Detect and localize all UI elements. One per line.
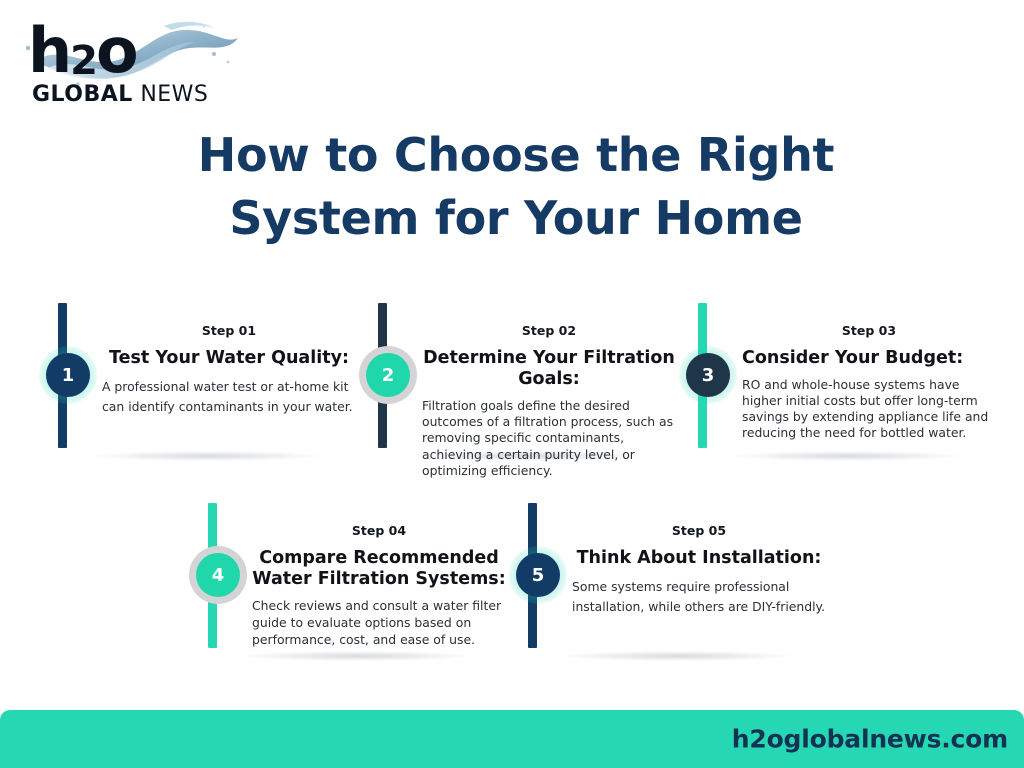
step-body-1: Step 01 Test Your Water Quality: A profe… <box>102 303 356 417</box>
logo-o: o <box>96 14 137 87</box>
step-heading-1: Test Your Water Quality: <box>102 338 356 369</box>
step-text-3: RO and whole-house systems have higher i… <box>742 369 996 442</box>
step-shadow-4 <box>242 651 472 661</box>
logo-global-text: GLOBAL <box>32 82 133 107</box>
step-card-4: 4 Step 04 Compare Recommended Water Filt… <box>196 503 506 663</box>
step-number-badge-2: 2 <box>366 353 410 397</box>
step-heading-4: Compare Recommended Water Filtration Sys… <box>252 538 506 591</box>
step-heading-5: Think About Installation: <box>572 538 826 569</box>
logo-2: 2 <box>70 38 96 84</box>
logo-h2o-text: h2o <box>28 20 137 82</box>
step-shadow-1 <box>92 451 322 461</box>
step-card-3: 3 Step 03 Consider Your Budget: RO and w… <box>686 303 996 463</box>
step-number-badge-4: 4 <box>196 553 240 597</box>
step-number-badge-1: 1 <box>46 353 90 397</box>
footer-bar: h2oglobalnews.com <box>0 710 1024 768</box>
site-logo[interactable]: h2o GLOBAL NEWS <box>14 18 244 113</box>
step-text-2: Filtration goals define the desired outc… <box>422 390 676 479</box>
step-heading-2: Determine Your Filtration Goals: <box>422 338 676 391</box>
step-text-1: A professional water test or at-home kit… <box>102 369 356 417</box>
step-shadow-5 <box>562 651 792 661</box>
step-card-5: 5 Step 05 Think About Installation: Some… <box>516 503 826 663</box>
logo-news-text: NEWS <box>140 82 208 107</box>
step-label-4: Step 04 <box>252 503 506 538</box>
step-card-1: 1 Step 01 Test Your Water Quality: A pro… <box>46 303 356 463</box>
logo-h: h <box>28 14 70 87</box>
step-number-badge-3: 3 <box>686 353 730 397</box>
step-label-1: Step 01 <box>102 303 356 338</box>
step-body-2: Step 02 Determine Your Filtration Goals:… <box>422 303 676 479</box>
footer-website-url[interactable]: h2oglobalnews.com <box>732 725 1008 754</box>
step-text-5: Some systems require professional instal… <box>572 569 826 617</box>
step-body-5: Step 05 Think About Installation: Some s… <box>572 503 826 617</box>
step-label-5: Step 05 <box>572 503 826 538</box>
page-title: How to Choose the Right System for Your … <box>160 124 872 251</box>
step-heading-3: Consider Your Budget: <box>742 338 996 369</box>
step-label-3: Step 03 <box>742 303 996 338</box>
logo-tagline: GLOBAL NEWS <box>32 84 208 106</box>
step-label-2: Step 02 <box>422 303 676 338</box>
step-text-4: Check reviews and consult a water filter… <box>252 590 506 649</box>
step-body-3: Step 03 Consider Your Budget: RO and who… <box>742 303 996 441</box>
step-shadow-3 <box>732 451 962 461</box>
step-body-4: Step 04 Compare Recommended Water Filtra… <box>252 503 506 649</box>
step-card-2: 2 Step 02 Determine Your Filtration Goal… <box>366 303 676 463</box>
step-number-badge-5: 5 <box>516 553 560 597</box>
